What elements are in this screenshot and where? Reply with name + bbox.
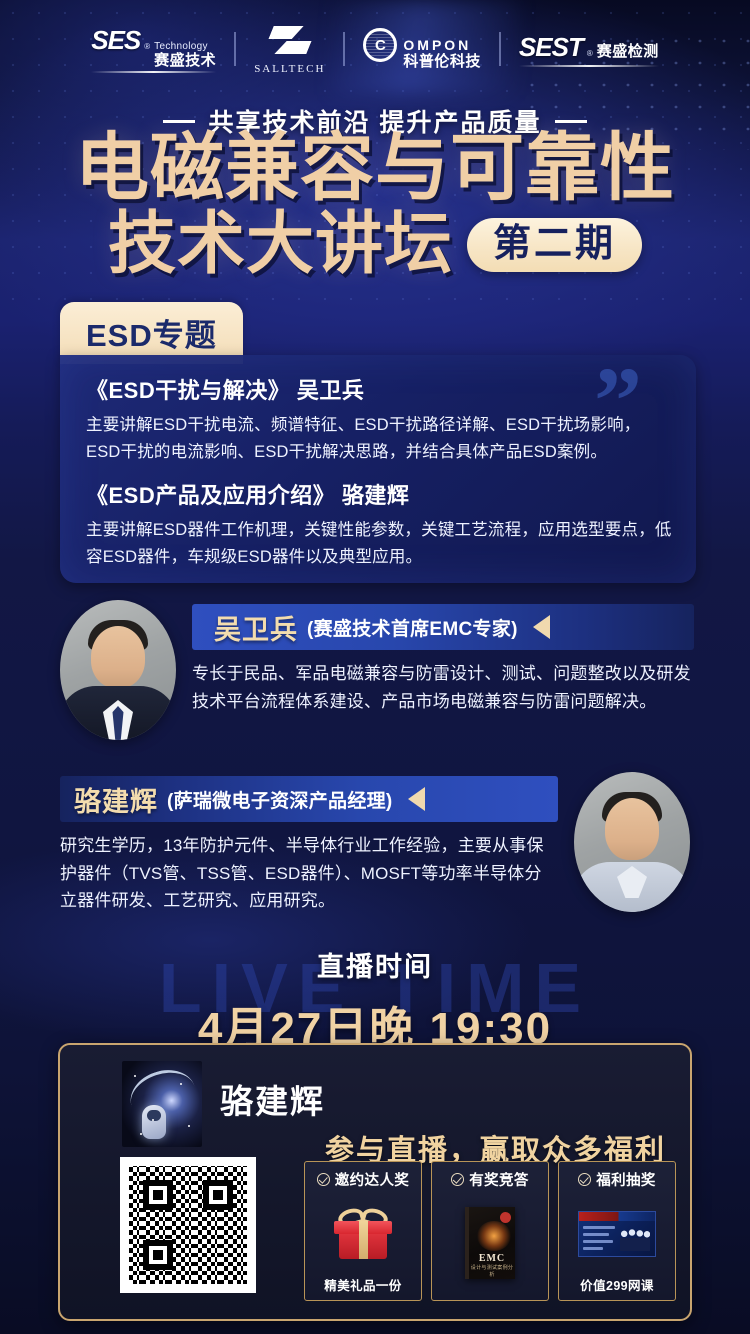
- speaker-role: (萨瑞微电子资深产品经理): [167, 786, 393, 813]
- astronaut-icon: [142, 1105, 166, 1139]
- prize-title: 福利抽奖: [596, 1169, 656, 1190]
- episode-badge: 第二期: [467, 218, 642, 272]
- logo-sest-underline: [519, 65, 659, 67]
- gift-box-icon: [334, 1209, 392, 1259]
- logo-ses: SES ® Technology 赛盛技术: [73, 25, 234, 73]
- triangle-left-icon: [533, 615, 550, 639]
- prize-artwork: EMC 设计与测试案例分析: [436, 1194, 544, 1292]
- logo-ses-english: Technology: [154, 41, 208, 52]
- logo-compon-mark: C: [375, 37, 386, 54]
- logo-compon-english: OMPON: [403, 37, 471, 53]
- session-item: 《ESD干扰与解决》 吴卫兵 主要讲解ESD干扰电流、频谱特征、ESD干扰路径详…: [86, 373, 672, 465]
- slogan-dash-left: [163, 120, 195, 123]
- logo-sest-chinese: 赛盛检测: [597, 43, 659, 60]
- contact-avatar: [122, 1061, 202, 1147]
- logo-ses-mark: SES: [91, 25, 140, 56]
- speaker-face: [605, 798, 659, 860]
- speaker-name-bar: 吴卫兵 (赛盛技术首席EMC专家): [192, 604, 694, 650]
- qr-finder-bottom-left: [143, 1240, 173, 1270]
- session-list-panel: ” 《ESD干扰与解决》 吴卫兵 主要讲解ESD干扰电流、频谱特征、ESD干扰路…: [60, 355, 696, 583]
- speaker-name-bar: 骆建辉 (萨瑞微电子资深产品经理): [60, 776, 558, 822]
- speaker-photo-wu: [60, 600, 176, 740]
- prize-artwork: [309, 1194, 417, 1273]
- speaker-name: 骆建辉: [74, 780, 158, 819]
- prize-caption: 精美礼品一份: [324, 1275, 401, 1294]
- main-title-block: 电磁兼容与可靠性 技术大讲坛 第二期: [0, 130, 750, 280]
- prize-title: 邀约达人奖: [335, 1169, 410, 1190]
- session-description: 主要讲解ESD干扰电流、频谱特征、ESD干扰路径详解、ESD干扰场影响，ESD干…: [86, 412, 672, 465]
- page-title-line1: 电磁兼容与可靠性: [0, 130, 750, 207]
- qr-code[interactable]: [120, 1157, 256, 1293]
- speaker-card-luo: 骆建辉 (萨瑞微电子资深产品经理) 研究生学历，13年防护元件、半导体行业工作经…: [0, 772, 750, 915]
- logo-sest-mark: SEST: [519, 32, 583, 63]
- speaker-name: 吴卫兵: [214, 608, 298, 647]
- speaker-photo-luo: [574, 772, 690, 912]
- session-description: 主要讲解ESD器件工作机理，关键性能参数，关键工艺流程，应用选型要点，低容ESD…: [86, 517, 672, 570]
- logo-sest: SEST ® 赛盛检测: [501, 32, 677, 67]
- speaker-card-wu: 吴卫兵 (赛盛技术首席EMC专家) 专长于民品、军品电磁兼容与防雷设计、测试、问…: [0, 600, 750, 740]
- sponsor-logo-bar: SES ® Technology 赛盛技术 SALLTECH C OMPON 科…: [0, 18, 750, 80]
- triangle-left-icon: [408, 787, 425, 811]
- book-subtitle: 设计与测试案例分析: [469, 1264, 515, 1278]
- speaker-role: (赛盛技术首席EMC专家): [307, 614, 518, 641]
- logo-salltech-text: SALLTECH: [254, 63, 325, 75]
- logo-compon-chinese: 科普伦科技: [403, 53, 481, 70]
- prize-item-invite: 邀约达人奖 精美礼品一份: [304, 1161, 422, 1301]
- speaker-bio: 专长于民品、军品电磁兼容与防雷设计、测试、问题整改以及研发技术平台流程体系建设、…: [192, 650, 694, 715]
- qr-finder-top-right: [203, 1180, 233, 1210]
- prize-artwork: [563, 1194, 671, 1273]
- session-item: 《ESD产品及应用介绍》 骆建辉 主要讲解ESD器件工作机理，关键性能参数，关键…: [86, 478, 672, 570]
- page-title-line2: 技术大讲坛: [108, 209, 453, 280]
- prize-title: 有奖竞答: [469, 1169, 529, 1190]
- logo-compon: C OMPON 科普伦科技: [345, 28, 499, 70]
- prize-item-quiz: 有奖竞答 EMC 设计与测试案例分析: [431, 1161, 549, 1301]
- slogan-dash-right: [555, 120, 587, 123]
- session-spacer: [86, 465, 672, 478]
- prize-caption: 价值299网课: [580, 1275, 654, 1294]
- check-circle-icon: [578, 1173, 591, 1186]
- book-title: EMC: [469, 1253, 515, 1264]
- check-circle-icon: [317, 1173, 330, 1186]
- session-title: 《ESD干扰与解决》 吴卫兵: [86, 373, 672, 405]
- live-time-block: LIVE TIME 直播时间 4月27日晚 19:30: [0, 945, 750, 1056]
- check-circle-icon: [451, 1173, 464, 1186]
- session-title: 《ESD产品及应用介绍》 骆建辉: [86, 478, 672, 510]
- prize-item-lottery: 福利抽奖 价值299网课: [558, 1161, 676, 1301]
- prize-list: 邀约达人奖 精美礼品一份 有奖竞答 EMC 设计与测试案例分析: [304, 1161, 676, 1301]
- logo-salltech: SALLTECH: [236, 24, 343, 75]
- logo-ses-chinese: 赛盛技术: [154, 52, 216, 69]
- contact-name: 骆建辉: [220, 1075, 325, 1123]
- registration-card: 骆建辉 参与直播，赢取众多福利 邀约达人奖 精美礼品一份: [58, 1043, 692, 1321]
- salltech-glyph-icon: [267, 24, 313, 58]
- speaker-bio: 研究生学历，13年防护元件、半导体行业工作经验，主要从事保护器件（TVS管、TS…: [60, 822, 558, 915]
- logo-ses-superscript: ®: [144, 42, 150, 51]
- logo-sest-superscript: ®: [587, 49, 593, 58]
- live-time-label: 直播时间: [0, 945, 750, 984]
- compon-ring-icon: C: [363, 28, 397, 62]
- logo-ses-underline: [91, 71, 216, 73]
- speaker-face: [91, 626, 145, 688]
- qr-finder-top-left: [143, 1180, 173, 1210]
- online-course-icon: [578, 1211, 656, 1257]
- emc-book-icon: EMC 设计与测试案例分析: [465, 1207, 515, 1279]
